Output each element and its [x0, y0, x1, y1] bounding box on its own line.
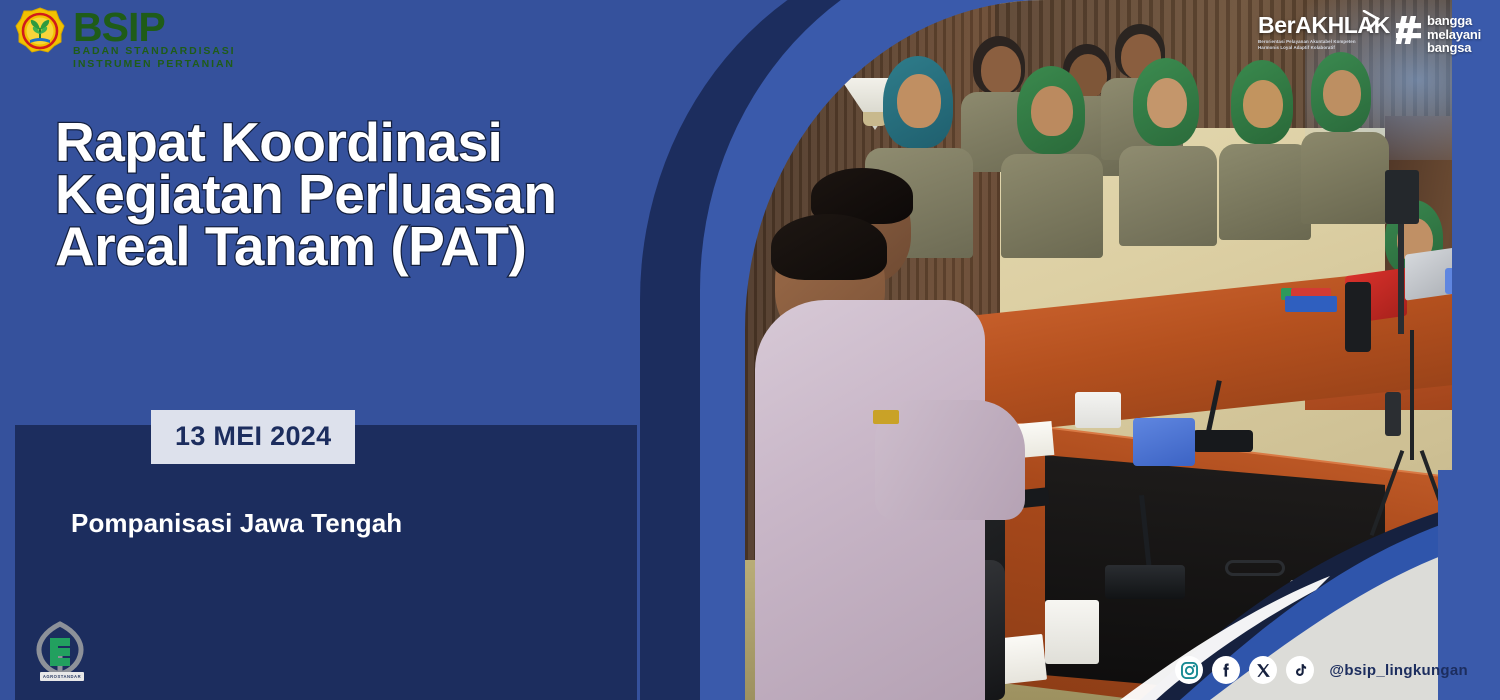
bangga-melayani-bangsa-logo: bangga melayani bangsa [1396, 14, 1481, 55]
bsip-wordmark: BSIP [73, 9, 236, 45]
title-line-3: Areal Tanam (PAT) [55, 220, 625, 272]
title-line-1: Rapat Koordinasi [55, 116, 625, 168]
bsip-emblem-icon [14, 6, 66, 58]
agrostandar-logo: AGROSTANDAR [28, 620, 92, 690]
instagram-icon[interactable] [1175, 656, 1203, 684]
bangga-line3: bangsa [1427, 41, 1481, 55]
bsip-tagline-line1: BADAN STANDARDISASI [73, 45, 236, 58]
bsip-tagline-line2: INSTRUMEN PERTANIAN [73, 58, 236, 71]
social-bar: @bsip_lingkungan [1175, 656, 1468, 684]
subtitle: Pompanisasi Jawa Tengah [71, 508, 402, 539]
bangga-line2: melayani [1427, 28, 1481, 42]
navy-band [15, 425, 637, 700]
berakhlak-logo: BerAKHLAK Berorientasi Pelayanan Akuntab… [1258, 14, 1390, 50]
title-line-2: Kegiatan Perluasan [55, 168, 625, 220]
social-handle: @bsip_lingkungan [1329, 662, 1468, 679]
bsip-logo: BSIP BADAN STANDARDISASI INSTRUMEN PERTA… [14, 6, 236, 70]
hashtag-icon [1396, 14, 1422, 46]
berakhlak-swoosh-icon [1362, 10, 1380, 32]
poster-canvas: BSIP BADAN STANDARDISASI INSTRUMEN PERTA… [0, 0, 1500, 700]
bangga-line1: bangga [1427, 14, 1481, 28]
tiktok-icon[interactable] [1286, 656, 1314, 684]
date-badge: 13 MEI 2024 [151, 410, 355, 464]
facebook-icon[interactable] [1212, 656, 1240, 684]
x-twitter-icon[interactable] [1249, 656, 1277, 684]
berakhlak-tagline: Berorientasi Pelayanan Akuntabel Kompete… [1258, 39, 1376, 50]
page-title: Rapat Koordinasi Kegiatan Perluasan Area… [55, 116, 625, 272]
microphone-icon [1193, 430, 1253, 452]
agrostandar-label: AGROSTANDAR [40, 672, 84, 681]
